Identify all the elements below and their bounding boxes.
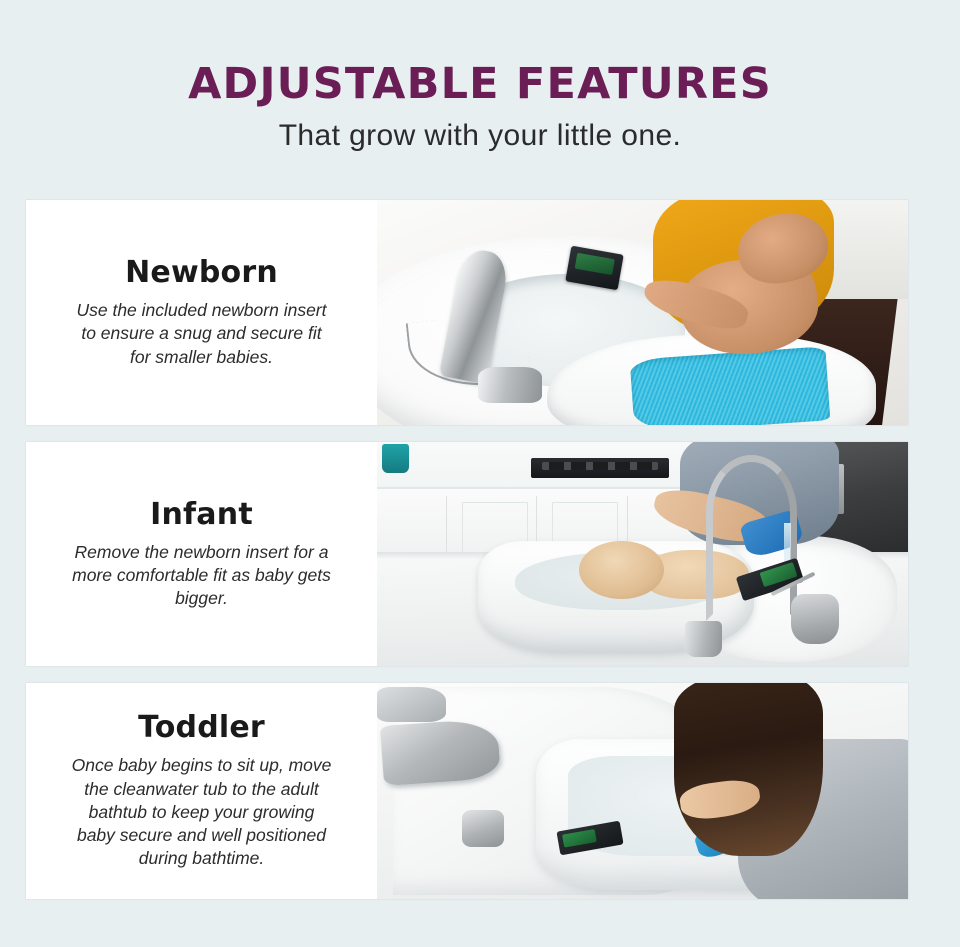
- feature-card-toddler: Toddler Once baby begins to sit up, move…: [26, 683, 908, 899]
- feature-card-toddler-body: Once baby begins to sit up, move the cle…: [71, 754, 333, 870]
- infant-head: [579, 541, 664, 599]
- feature-card-toddler-text: Toddler Once baby begins to sit up, move…: [26, 683, 377, 899]
- feature-card-infant-photo: [377, 442, 908, 666]
- page-title: ADJUSTABLE FEATURES: [0, 62, 960, 107]
- gas-stove: [531, 458, 669, 478]
- feature-card-toddler-photo: [377, 683, 908, 899]
- feature-card-newborn-heading: Newborn: [125, 256, 278, 289]
- feature-card-newborn: Newborn Use the included newborn insert …: [26, 200, 908, 425]
- feature-card-newborn-body: Use the included newborn insert to ensur…: [71, 299, 333, 369]
- page-subtitle: That grow with your little one.: [0, 119, 960, 152]
- faucet-base: [685, 621, 722, 657]
- teal-vase: [382, 444, 409, 473]
- feature-card-infant-text: Infant Remove the newborn insert for a m…: [26, 442, 377, 666]
- faucet-base: [478, 367, 542, 403]
- feature-card-newborn-text: Newborn Use the included newborn insert …: [26, 200, 377, 425]
- feature-card-infant-body: Remove the newborn insert for a more com…: [71, 541, 333, 611]
- blue-mesh-insert: [630, 346, 831, 425]
- infographic-page: ADJUSTABLE FEATURES That grow with your …: [0, 0, 960, 947]
- bathtub-spout-top: [377, 687, 446, 722]
- caregiver-hair: [674, 683, 823, 856]
- bathtub-drain-knob: [462, 810, 504, 847]
- feature-card-newborn-photo: [377, 200, 908, 425]
- feature-card-infant-heading: Infant: [150, 498, 253, 531]
- soap-dispenser: [791, 594, 839, 643]
- feature-cards-list: Newborn Use the included newborn insert …: [26, 200, 908, 916]
- feature-card-infant: Infant Remove the newborn insert for a m…: [26, 442, 908, 666]
- feature-card-toddler-heading: Toddler: [138, 711, 265, 744]
- header: ADJUSTABLE FEATURES That grow with your …: [0, 0, 960, 152]
